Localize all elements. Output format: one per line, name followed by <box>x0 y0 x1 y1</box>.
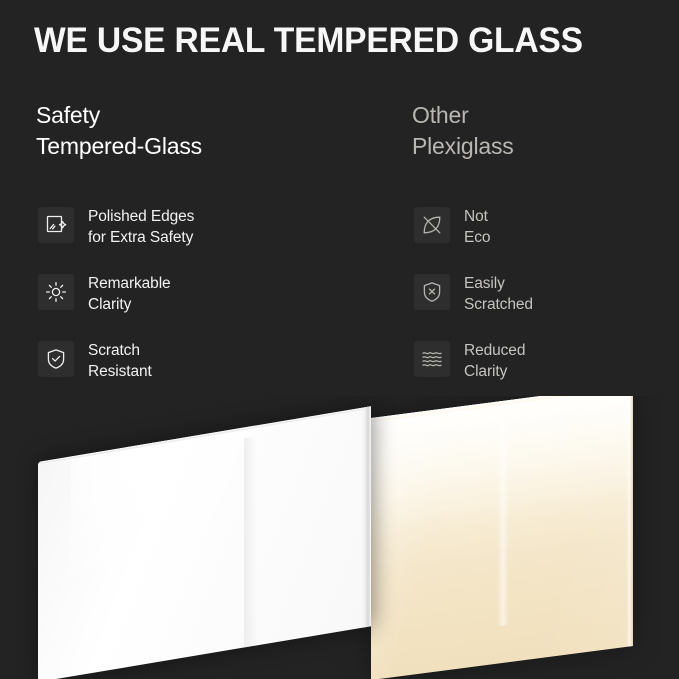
feature-line1: Not <box>464 206 490 227</box>
wavy-lines-icon <box>414 341 450 377</box>
feature-line1: Reduced <box>464 340 525 361</box>
feature-polished-edges-label: Polished Edges for Extra Safety <box>88 204 194 248</box>
page-title: WE USE REAL TEMPERED GLASS <box>34 20 629 62</box>
feature-line2: Scratched <box>464 294 533 315</box>
tempered-glass-comparison-infographic: WE USE REAL TEMPERED GLASS Safety Temper… <box>0 0 679 679</box>
feature-scratch-resistant-label: Scratch Resistant <box>88 338 152 382</box>
feature-easily-scratched: Easily Scratched <box>414 271 679 338</box>
column-other-plexiglass: Other Plexiglass Not Eco <box>412 100 679 162</box>
feature-line2: for Extra Safety <box>88 227 194 248</box>
column-safety-tempered-glass: Safety Tempered-Glass Polished Edges fo <box>36 100 336 162</box>
column-heading-right-line2: Plexiglass <box>412 131 679 162</box>
plexiglass-side-edge <box>626 396 633 647</box>
glass-panels-photo <box>0 396 679 679</box>
column-heading-right: Other Plexiglass <box>412 100 679 162</box>
shield-check-icon <box>38 341 74 377</box>
tempered-glass-reflection <box>244 428 304 647</box>
comparison-columns: Safety Tempered-Glass Polished Edges fo <box>0 100 679 400</box>
feature-line1: Scratch <box>88 340 152 361</box>
plexiglass-panel <box>371 396 633 679</box>
column-heading-left-line1: Safety <box>36 100 336 131</box>
column-heading-left: Safety Tempered-Glass <box>36 100 336 162</box>
feature-remarkable-clarity: Remarkable Clarity <box>38 271 328 338</box>
feature-line2: Eco <box>464 227 490 248</box>
tempered-glass-side-edge <box>361 406 371 628</box>
feature-not-eco: Not Eco <box>414 204 679 271</box>
tempered-glass-panel <box>38 406 371 679</box>
shield-x-icon <box>414 274 450 310</box>
feature-scratch-resistant: Scratch Resistant <box>38 338 328 405</box>
sun-brightness-icon <box>38 274 74 310</box>
feature-line1: Easily <box>464 273 533 294</box>
column-heading-right-line1: Other <box>412 100 679 131</box>
column-heading-left-line2: Tempered-Glass <box>36 131 336 162</box>
feature-line2: Clarity <box>464 361 525 382</box>
feature-reduced-clarity-label: Reduced Clarity <box>464 338 525 382</box>
feature-remarkable-clarity-label: Remarkable Clarity <box>88 271 171 315</box>
plexiglass-reflection <box>497 421 509 627</box>
feature-line1: Polished Edges <box>88 206 194 227</box>
feature-list-left: Polished Edges for Extra Safety Remarkab… <box>38 204 328 405</box>
polished-square-sparkle-icon <box>38 207 74 243</box>
feature-easily-scratched-label: Easily Scratched <box>464 271 533 315</box>
feature-not-eco-label: Not Eco <box>464 204 490 248</box>
feature-list-right: Not Eco Easily Scratched <box>414 204 679 405</box>
feature-line2: Resistant <box>88 361 152 382</box>
feature-polished-edges: Polished Edges for Extra Safety <box>38 204 328 271</box>
feature-line1: Remarkable <box>88 273 171 294</box>
feature-reduced-clarity: Reduced Clarity <box>414 338 679 405</box>
feature-line2: Clarity <box>88 294 171 315</box>
leaf-slashed-icon <box>414 207 450 243</box>
